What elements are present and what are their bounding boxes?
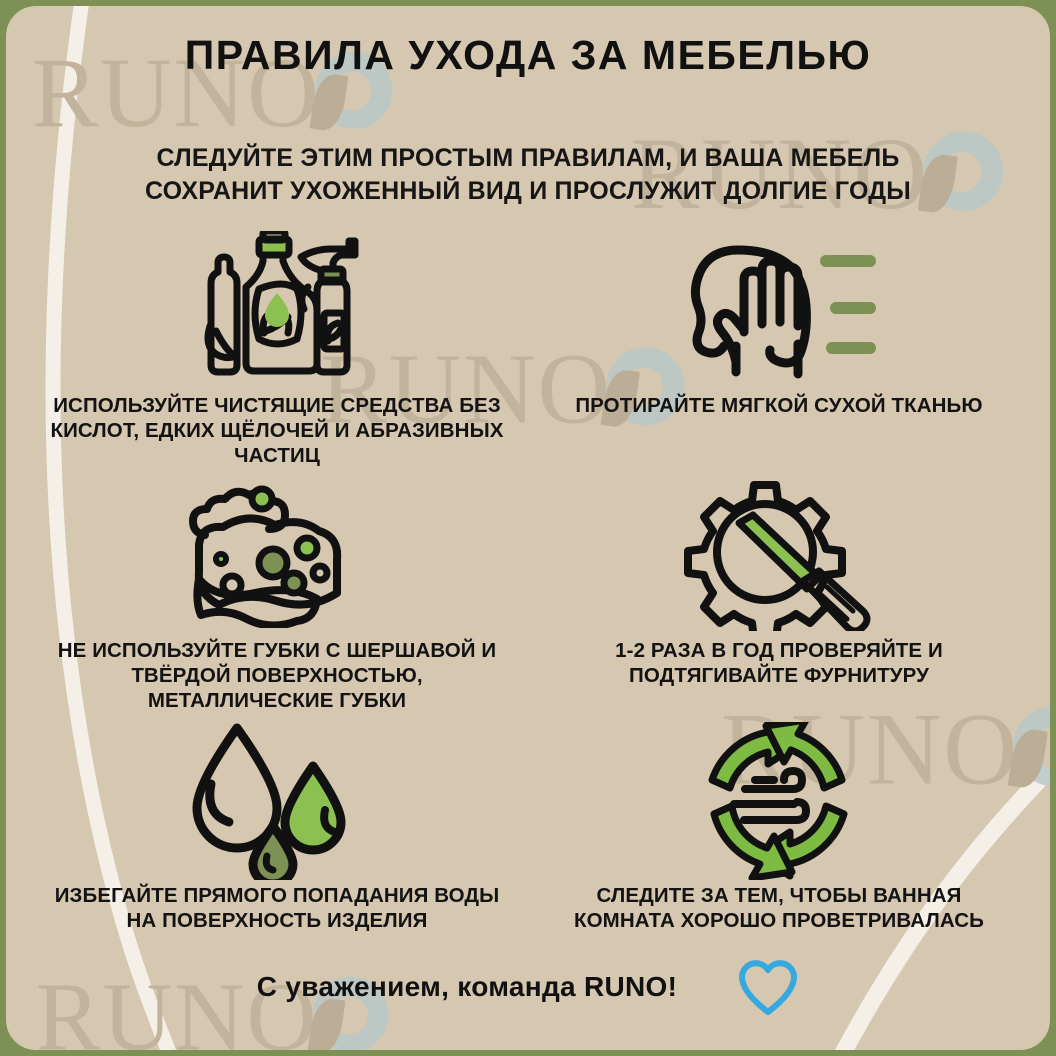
rule-item: ИЗБЕГАЙТЕ ПРЯМОГО ПОПАДАНИЯ ВОДЫ НА ПОВЕ… [26, 718, 528, 963]
rule-item: ПРОТИРАЙТЕ МЯГКОЙ СУХОЙ ТКАНЬЮ [528, 228, 1030, 473]
rule-caption: ПРОТИРАЙТЕ МЯГКОЙ СУХОЙ ТКАНЬЮ [575, 393, 982, 418]
poster: RUNO RUNO RUNO RUNO RUNO [0, 0, 1056, 1056]
gear-screwdriver-icon [679, 473, 879, 638]
rule-caption: НЕ ИСПОЛЬЗУЙТЕ ГУБКИ С ШЕРШАВОЙ И ТВЁРДО… [41, 638, 513, 713]
subtitle-line-1: СЛЕДУЙТЕ ЭТИМ ПРОСТЫМ ПРАВИЛАМ, И ВАША М… [6, 142, 1050, 175]
rule-caption: 1-2 РАЗА В ГОД ПРОВЕРЯЙТЕ И ПОДТЯГИВАЙТЕ… [553, 638, 1005, 688]
signature-text: С уважением, команда RUNO! [257, 971, 678, 1003]
hand-wiping-cloth-icon [674, 228, 884, 393]
footer: С уважением, команда RUNO! [6, 958, 1050, 1016]
rules-grid: ИСПОЛЬЗУЙТЕ ЧИСТЯЩИЕ СРЕДСТВА БЕЗ КИСЛОТ… [26, 228, 1030, 963]
air-circulation-icon [682, 718, 877, 883]
page-title: ПРАВИЛА УХОДА ЗА МЕБЕЛЬЮ [6, 32, 1050, 79]
sponge-icon [177, 473, 377, 638]
rule-caption: ИЗБЕГАЙТЕ ПРЯМОГО ПОПАДАНИЯ ВОДЫ НА ПОВЕ… [41, 883, 513, 933]
cleaning-bottles-icon [167, 228, 387, 393]
rule-item: СЛЕДИТЕ ЗА ТЕМ, ЧТОБЫ ВАННАЯ КОМНАТА ХОР… [528, 718, 1030, 963]
heart-icon [737, 958, 799, 1016]
rule-item: НЕ ИСПОЛЬЗУЙТЕ ГУБКИ С ШЕРШАВОЙ И ТВЁРДО… [26, 473, 528, 718]
poster-card: RUNO RUNO RUNO RUNO RUNO [6, 6, 1050, 1050]
rule-item: ИСПОЛЬЗУЙТЕ ЧИСТЯЩИЕ СРЕДСТВА БЕЗ КИСЛОТ… [26, 228, 528, 473]
water-drops-icon [185, 718, 370, 883]
rule-caption: СЛЕДИТЕ ЗА ТЕМ, ЧТОБЫ ВАННАЯ КОМНАТА ХОР… [553, 883, 1005, 933]
page-subtitle: СЛЕДУЙТЕ ЭТИМ ПРОСТЫМ ПРАВИЛАМ, И ВАША М… [6, 142, 1050, 208]
rule-item: 1-2 РАЗА В ГОД ПРОВЕРЯЙТЕ И ПОДТЯГИВАЙТЕ… [528, 473, 1030, 718]
subtitle-line-2: СОХРАНИТ УХОЖЕННЫЙ ВИД И ПРОСЛУЖИТ ДОЛГИ… [6, 175, 1050, 208]
rule-caption: ИСПОЛЬЗУЙТЕ ЧИСТЯЩИЕ СРЕДСТВА БЕЗ КИСЛОТ… [41, 393, 513, 468]
